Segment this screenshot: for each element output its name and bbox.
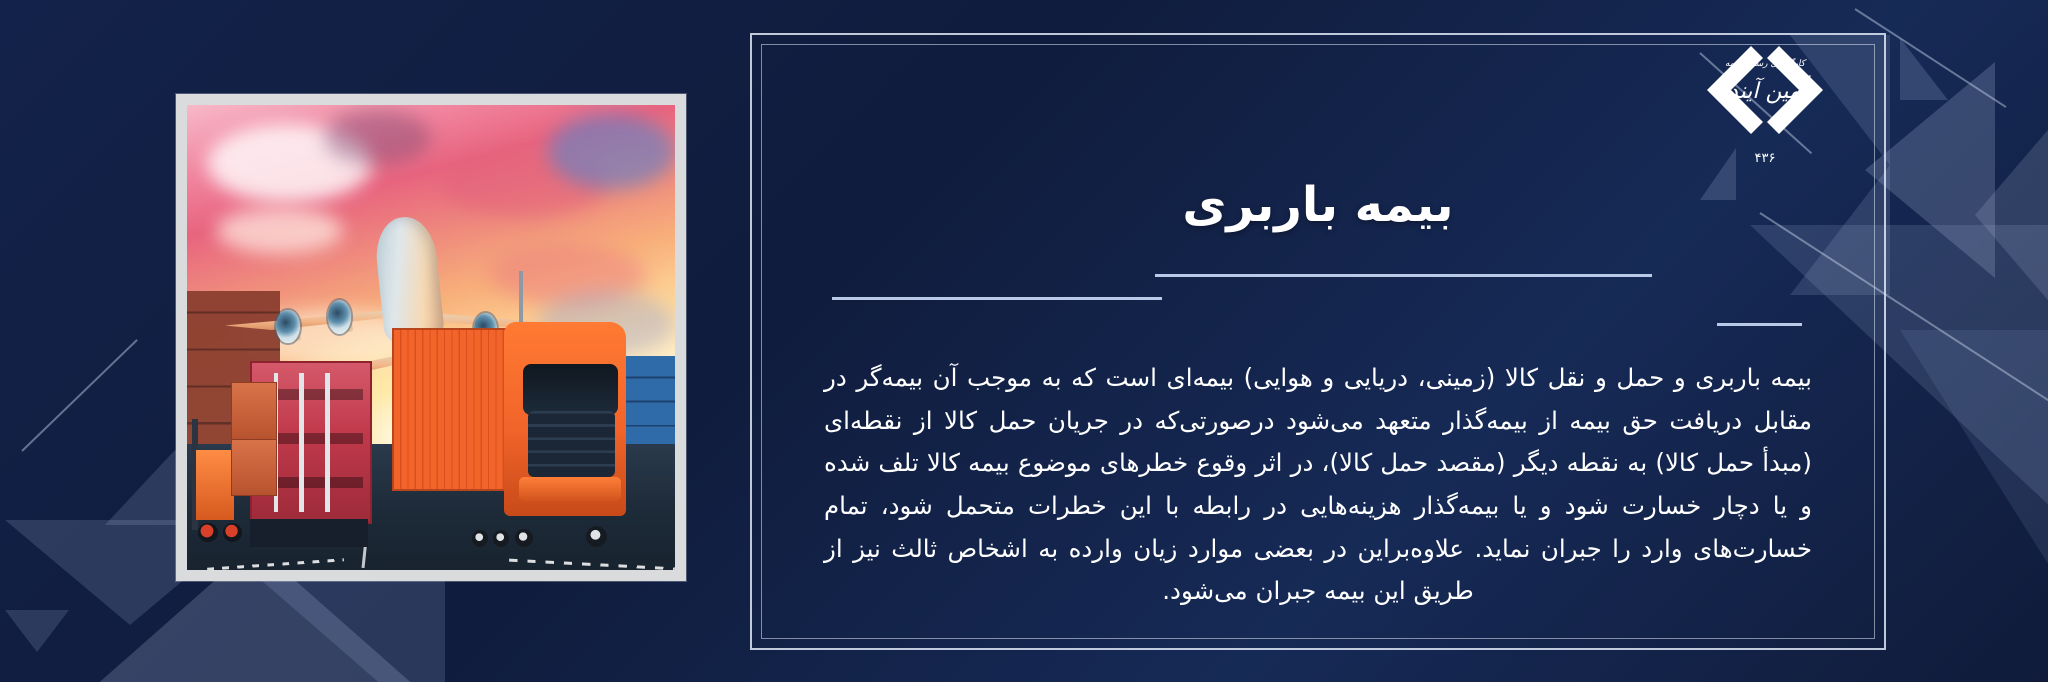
- cloud: [324, 110, 431, 166]
- truck-wheel: [493, 530, 509, 546]
- trailer-chassis: [250, 519, 367, 547]
- airplane-engine: [276, 310, 299, 343]
- body-paragraph: بیمه باربری و حمل و نقل کالا (زمینی، دری…: [824, 357, 1812, 613]
- decorative-rule: [832, 297, 1162, 300]
- truck-container: [392, 328, 518, 491]
- truck-grille: [528, 411, 616, 477]
- triangle-shape: [1900, 330, 2048, 630]
- truck-bumper: [519, 477, 621, 500]
- slide-canvas: تأمین آینده کارگزاری رسمی بیمه ۴۳۶ بیمه …: [0, 0, 2048, 682]
- decorative-rule: [1155, 274, 1652, 277]
- forklift-body: [196, 450, 234, 520]
- cardboard-box: [231, 438, 277, 496]
- svg-text:تأمین آینده: تأمین آینده: [1717, 75, 1817, 104]
- photo-frame: [176, 94, 686, 581]
- logo-code: ۴۳۶: [1701, 151, 1829, 166]
- cloud: [548, 114, 675, 188]
- lane-marking: [509, 559, 675, 570]
- container-bar: [299, 373, 304, 512]
- truck-wheel: [515, 529, 533, 547]
- truck-cab: [504, 322, 626, 516]
- triangle-shape: [1900, 38, 1948, 100]
- page-title: بیمه باربری: [752, 177, 1884, 233]
- triangle-shape: [1975, 75, 2048, 355]
- svg-text:کارگزاری رسمی بیمه: کارگزاری رسمی بیمه: [1725, 57, 1807, 69]
- airplane-wing: [225, 310, 405, 330]
- diagonal-line: [21, 339, 137, 452]
- container-bar: [325, 373, 330, 512]
- transport-photo: [187, 105, 675, 570]
- truck-wheel: [472, 530, 488, 546]
- truck-windshield: [523, 364, 618, 415]
- airplane-engine: [328, 300, 351, 333]
- triangle-shape: [5, 610, 69, 652]
- forklift-wheel: [198, 523, 217, 542]
- lane-marking: [207, 559, 343, 570]
- decorative-rule: [1717, 323, 1802, 326]
- content-panel: تأمین آینده کارگزاری رسمی بیمه ۴۳۶ بیمه …: [750, 33, 1886, 650]
- orange-semi-truck: [392, 291, 626, 547]
- forklift-wheel: [223, 523, 242, 542]
- company-logo: تأمین آینده کارگزاری رسمی بیمه ۴۳۶: [1701, 40, 1829, 168]
- cardboard-box: [231, 382, 277, 440]
- truck-wheel: [586, 526, 607, 547]
